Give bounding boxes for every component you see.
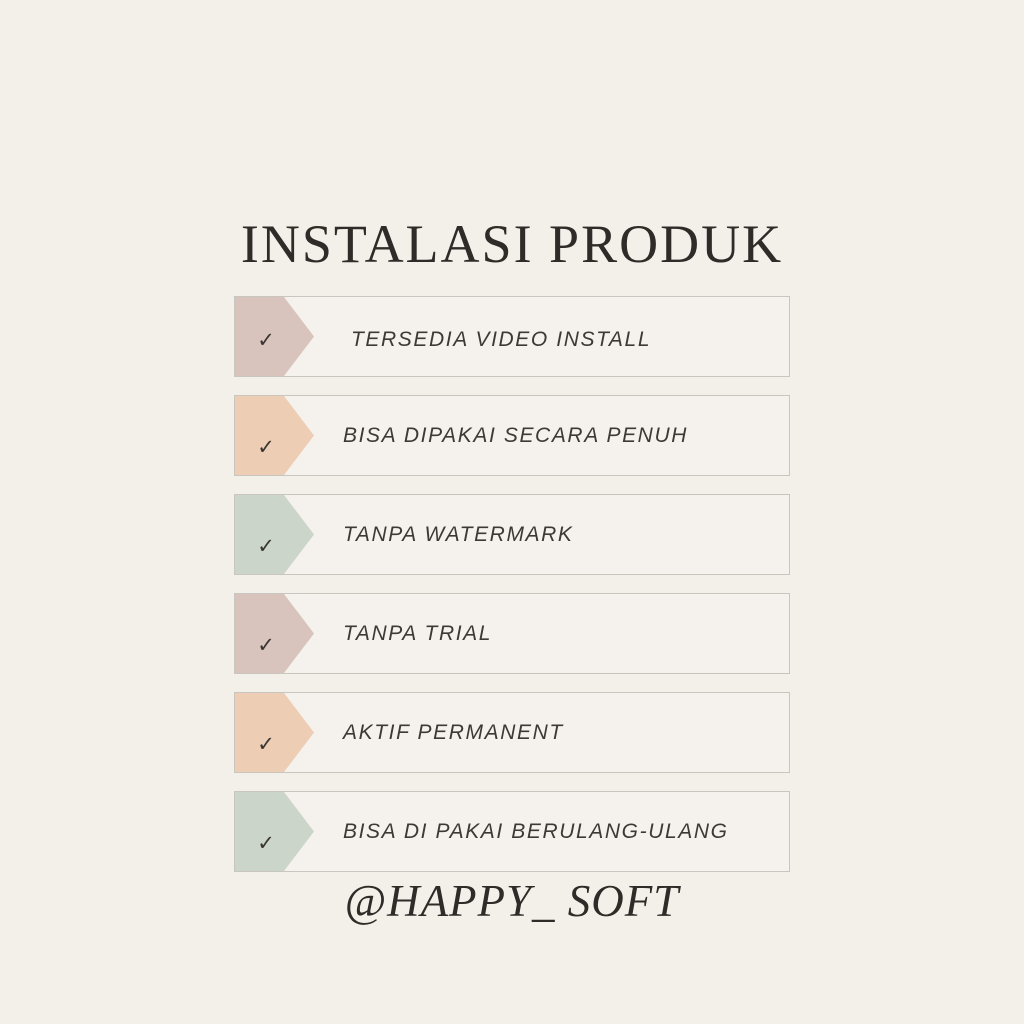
check-tag — [235, 792, 314, 871]
list-item-label: BISA DI PAKAI BERULANG-ULANG — [343, 792, 729, 881]
list-item[interactable]: ✓ TANPA WATERMARK — [234, 494, 790, 575]
check-tag — [235, 396, 314, 475]
list-item[interactable]: ✓ TANPA TRIAL — [234, 593, 790, 674]
check-tag — [235, 297, 314, 376]
list-item[interactable]: ✓ BISA DIPAKAI SECARA PENUH — [234, 395, 790, 476]
list-item-label: AKTIF PERMANENT — [343, 693, 564, 782]
poster-canvas: INSTALASI PRODUK ✓ TERSEDIA VIDEO INSTAL… — [0, 0, 1024, 1024]
list-item-label: BISA DIPAKAI SECARA PENUH — [343, 396, 688, 485]
list-item-label: TANPA WATERMARK — [343, 495, 574, 584]
check-tag — [235, 594, 314, 673]
brand-handle: @HAPPY_ SOFT — [0, 875, 1024, 927]
page-title: INSTALASI PRODUK — [0, 213, 1024, 275]
check-tag — [235, 693, 314, 772]
list-item[interactable]: ✓ AKTIF PERMANENT — [234, 692, 790, 773]
checklist: ✓ TERSEDIA VIDEO INSTALL ✓ BISA DIPAKAI … — [234, 296, 790, 890]
list-item[interactable]: ✓ BISA DI PAKAI BERULANG-ULANG — [234, 791, 790, 872]
list-item-label: TANPA TRIAL — [343, 594, 492, 683]
list-item[interactable]: ✓ TERSEDIA VIDEO INSTALL — [234, 296, 790, 377]
check-tag — [235, 495, 314, 574]
list-item-label: TERSEDIA VIDEO INSTALL — [351, 297, 651, 379]
